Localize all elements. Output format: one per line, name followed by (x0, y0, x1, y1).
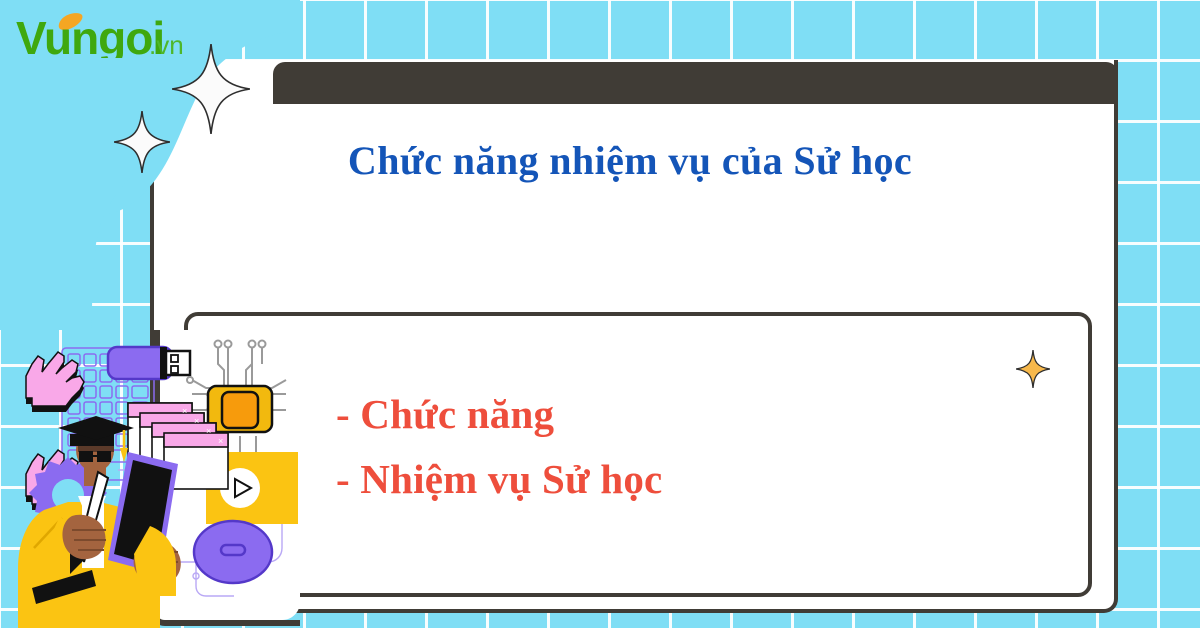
site-logo[interactable]: Vungoi .vn (16, 14, 191, 58)
vungoi-logo-icon: Vungoi .vn (16, 10, 191, 58)
content-list: - Chức năng - Nhiệm vụ Sử học (336, 382, 1076, 512)
student-technology-illustration: ×× ×× (0, 330, 300, 628)
usb-drive-icon (108, 347, 190, 379)
svg-text:×: × (218, 436, 223, 446)
sparkle-large (172, 44, 250, 134)
svg-text:Vungoi: Vungoi (16, 12, 164, 58)
list-item: - Chức năng (336, 382, 1076, 447)
list-item: - Nhiệm vụ Sử học (336, 447, 1076, 512)
content-card-title-bar (273, 62, 1118, 104)
page-title: Chức năng nhiệm vụ của Sử học (155, 138, 1105, 184)
svg-text:×: × (194, 416, 199, 426)
svg-text:×: × (182, 406, 187, 416)
hand-icon (26, 352, 84, 412)
slide-canvas: Vungoi .vn Chức năng nhiệm vụ của Sử học… (0, 0, 1200, 628)
svg-text:×: × (206, 426, 211, 436)
computer-mouse-icon (194, 521, 272, 583)
